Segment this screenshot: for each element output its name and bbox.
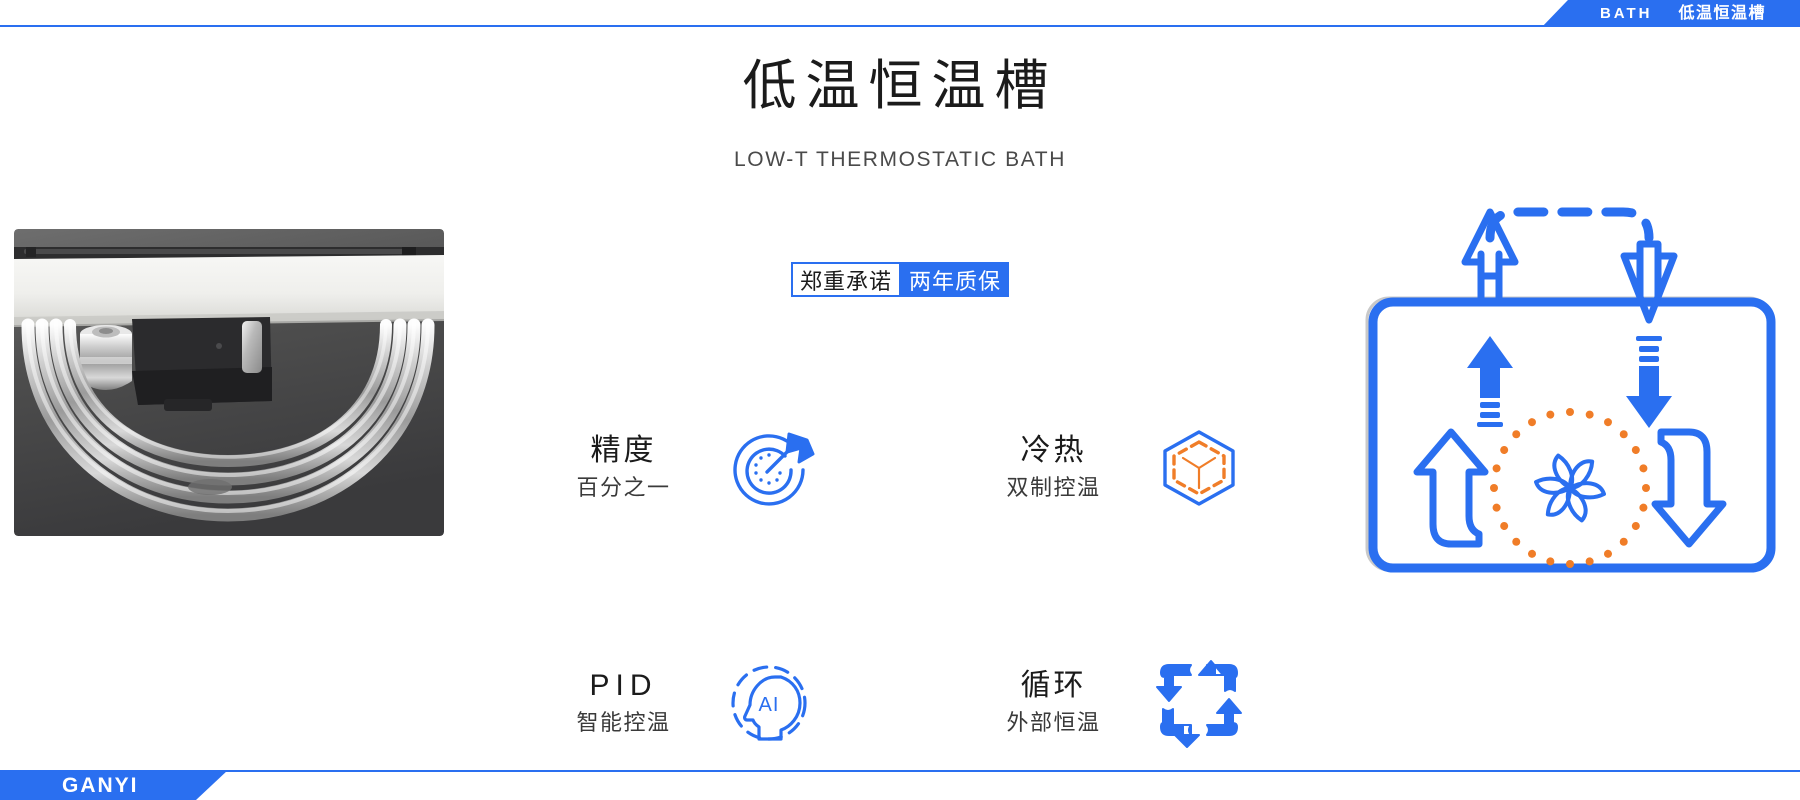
feature-title: 循环 xyxy=(979,667,1129,705)
target-arrow-icon xyxy=(717,415,822,520)
top-banner-cn-label: 低温恒温槽 xyxy=(1678,6,1766,22)
bath-circulation-diagram xyxy=(1355,150,1785,580)
promo-page: BATH 低温恒温槽 xyxy=(0,0,1800,800)
footer-logo-tag: GANYI xyxy=(0,770,228,800)
feature-title: 冷热 xyxy=(979,432,1129,470)
right-return-arrow xyxy=(1655,432,1723,544)
warranty-badge-term: 两年质保 xyxy=(901,262,1009,297)
footer-divider-line xyxy=(0,770,1800,772)
feature-title: PID xyxy=(549,667,699,705)
warranty-badge-promise: 郑重承诺 xyxy=(791,262,901,297)
feature-caption: 双制控温 xyxy=(979,473,1129,503)
circulation-arrows-icon xyxy=(1147,650,1252,755)
internal-flow-up xyxy=(1467,336,1513,427)
feature-item-pid: PID 智能控温 AI xyxy=(470,635,900,770)
feature-item-dual-temp: 冷热 双制控温 xyxy=(900,400,1330,535)
brand-logo: GANYI xyxy=(62,775,139,796)
center-column: 低温恒温槽 LOW-T THERMOSTATIC BATH 郑重承诺 两年质保 … xyxy=(450,0,1350,800)
internal-flow-down xyxy=(1626,336,1672,428)
feature-text: 循环 外部恒温 xyxy=(979,667,1129,738)
left-return-arrow xyxy=(1417,432,1485,544)
feature-item-circulation: 循环 外部恒温 xyxy=(900,635,1330,770)
feature-row-2: PID 智能控温 AI 循环 外部恒温 xyxy=(470,635,1330,770)
feature-row-1: 精度 百分之一 xyxy=(470,400,1330,535)
stirrer-fan xyxy=(1536,454,1604,522)
page-subtitle: LOW-T THERMOSTATIC BATH xyxy=(450,148,1350,172)
svg-text:AI: AI xyxy=(759,694,780,716)
hexagon-dual-icon xyxy=(1147,415,1252,520)
feature-title: 精度 xyxy=(549,432,699,470)
feature-grid: 精度 百分之一 xyxy=(470,400,1330,770)
footer-bar: GANYI xyxy=(0,760,1800,800)
feature-caption: 智能控温 xyxy=(549,708,699,738)
feature-caption: 外部恒温 xyxy=(979,708,1129,738)
page-title: 低温恒温槽 xyxy=(450,55,1350,117)
product-photo-image xyxy=(14,229,444,536)
product-photo xyxy=(14,229,444,536)
feature-text: 冷热 双制控温 xyxy=(979,432,1129,503)
feature-text: PID 智能控温 xyxy=(549,667,699,738)
feature-text: 精度 百分之一 xyxy=(549,432,699,503)
feature-item-accuracy: 精度 百分之一 xyxy=(470,400,900,535)
external-dashed-loop xyxy=(1490,212,1649,238)
top-banner-tag: BATH 低温恒温槽 xyxy=(1542,0,1800,27)
top-banner-en-label: BATH xyxy=(1600,6,1653,21)
feature-caption: 百分之一 xyxy=(549,473,699,503)
ai-head-icon: AI xyxy=(717,650,822,755)
inlet-arrow-down xyxy=(1624,244,1674,320)
warranty-badge: 郑重承诺 两年质保 xyxy=(450,262,1350,297)
